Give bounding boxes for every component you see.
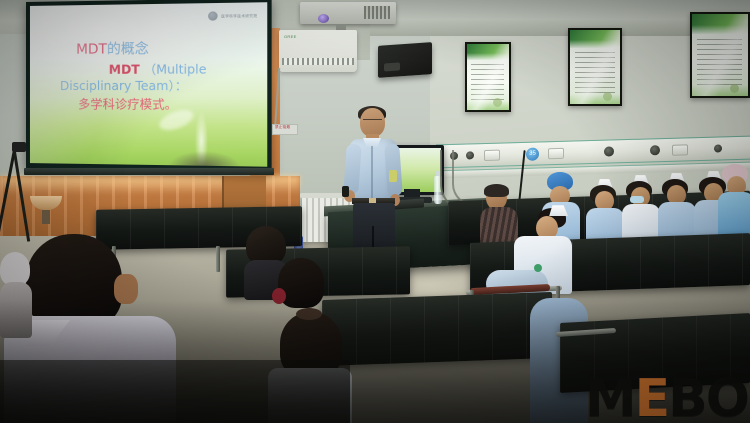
decor-bowl-stem bbox=[42, 210, 50, 224]
gas-outlet-icon bbox=[604, 146, 614, 156]
projected-slide: 医学科学技术研究院 MDT的概念 MDT （Multiple Disciplin… bbox=[30, 2, 267, 167]
slide-line-1-en: MDT bbox=[76, 41, 107, 57]
watermark-highlight: E bbox=[635, 369, 669, 423]
hospital-logo-icon bbox=[208, 11, 218, 20]
gas-outlet-icon bbox=[650, 145, 660, 155]
watermark: MEBO bbox=[585, 373, 748, 423]
ac-louver bbox=[282, 58, 354, 65]
face-mask-icon bbox=[630, 196, 644, 203]
wall-switch[interactable] bbox=[484, 150, 500, 161]
audience-member-nurse-3 bbox=[658, 172, 698, 242]
wall-certificate-2 bbox=[568, 28, 622, 106]
screen-bottom-bar bbox=[24, 168, 274, 175]
air-conditioner: GREE bbox=[279, 30, 357, 72]
slide-logo: 医学科学技术研究院 bbox=[208, 11, 257, 21]
wall-sign: 禁止吸烟 bbox=[272, 124, 298, 135]
presenter-shirt-placket bbox=[371, 146, 373, 198]
certificate-paper bbox=[692, 14, 748, 96]
audience-member-nurse-2 bbox=[622, 174, 662, 244]
tripod-head bbox=[12, 142, 26, 152]
slide-line-2-cn: （Multiple bbox=[144, 62, 207, 77]
projection-screen: 医学科学技术研究院 MDT的概念 MDT （Multiple Disciplin… bbox=[26, 0, 272, 172]
presenter-pocket-item bbox=[389, 170, 397, 182]
wall-certificate-3 bbox=[690, 12, 750, 98]
certificate-paper bbox=[467, 44, 509, 110]
slide-background-image bbox=[152, 108, 248, 167]
watermark-text: M bbox=[585, 369, 635, 423]
slide-leaf-shape bbox=[157, 106, 196, 134]
slide-logo-text: 医学科学技术研究院 bbox=[221, 13, 257, 19]
person-head bbox=[0, 252, 30, 286]
wall-switch[interactable] bbox=[548, 148, 564, 159]
glasses-icon bbox=[363, 119, 382, 124]
watermark-text-2: BO bbox=[668, 369, 748, 423]
certificate-paper bbox=[570, 30, 620, 104]
certificate-glass-glare bbox=[467, 44, 509, 110]
projector-lens-icon bbox=[318, 14, 329, 23]
presentation-remote[interactable] bbox=[342, 186, 349, 197]
slide-line-3: Disciplinary Team）： bbox=[60, 78, 267, 94]
wall-sign-text: 禁止吸烟 bbox=[273, 125, 297, 130]
certificate-glass-glare bbox=[692, 14, 748, 96]
cable-loop bbox=[452, 150, 480, 206]
person-hair bbox=[484, 184, 509, 197]
slide-line-1: MDT的概念 bbox=[76, 40, 267, 59]
slide-line-2: MDT （Multiple bbox=[109, 62, 268, 78]
certificate-glass-glare bbox=[570, 30, 620, 104]
slide-line-2-en: MDT bbox=[109, 63, 140, 77]
pressure-gauge: 35 bbox=[526, 148, 539, 161]
ac-brand-badge: GREE bbox=[284, 34, 297, 39]
slide-text-block: MDT的概念 MDT （Multiple Disciplinary Team）：… bbox=[30, 40, 267, 114]
badge-icon bbox=[534, 264, 542, 272]
wall-certificate-1 bbox=[465, 42, 511, 112]
slide-line-1-cn: 的概念 bbox=[107, 41, 149, 58]
gas-outlet-icon bbox=[714, 144, 722, 152]
audience-member-nurse-5 bbox=[718, 160, 750, 230]
bench-leg bbox=[216, 246, 220, 272]
photo-scene: 医学科学技术研究院 MDT的概念 MDT （Multiple Disciplin… bbox=[0, 0, 750, 423]
ceiling-projector bbox=[300, 2, 396, 24]
projector-vent bbox=[364, 6, 390, 19]
speaker-grill-icon bbox=[384, 62, 400, 71]
wall-speaker bbox=[378, 42, 432, 78]
wall-switch[interactable] bbox=[672, 144, 688, 155]
